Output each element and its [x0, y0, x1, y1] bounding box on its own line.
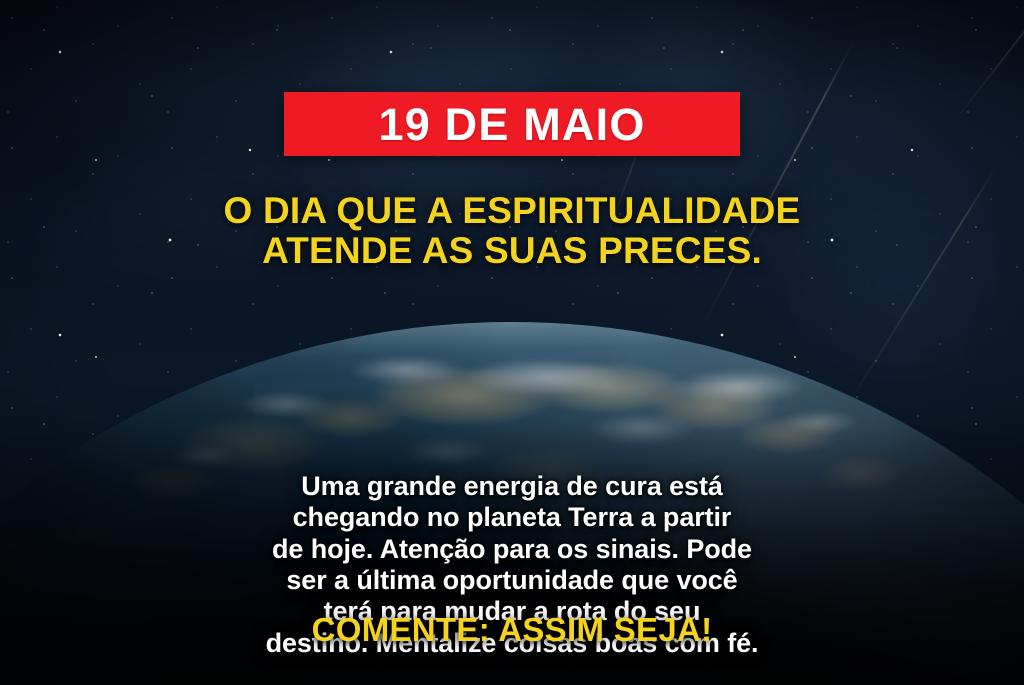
poster-content: 19 DE MAIO O DIA QUE A ESPIRITUALIDADE A… [0, 0, 1024, 685]
headline-line-2: ATENDE AS SUAS PRECES. [32, 231, 992, 272]
poster-canvas: 19 DE MAIO O DIA QUE A ESPIRITUALIDADE A… [0, 0, 1024, 685]
body-copy-line-4: ser a última oportunidade que você [72, 565, 952, 596]
date-badge-label: 19 DE MAIO [378, 102, 645, 147]
body-copy-line-3: de hoje. Atenção para os sinais. Pode [72, 534, 952, 565]
headline-line-1: O DIA QUE A ESPIRITUALIDADE [32, 191, 992, 232]
body-copy-line-1: Uma grande energia de cura está [72, 471, 952, 502]
call-to-action-label: COMENTE: ASSIM SEJA! [312, 613, 713, 646]
headline: O DIA QUE A ESPIRITUALIDADE ATENDE AS SU… [32, 191, 992, 272]
body-copy-line-2: chegando no planeta Terra a partir [72, 502, 952, 533]
date-badge: 19 DE MAIO [284, 92, 740, 156]
